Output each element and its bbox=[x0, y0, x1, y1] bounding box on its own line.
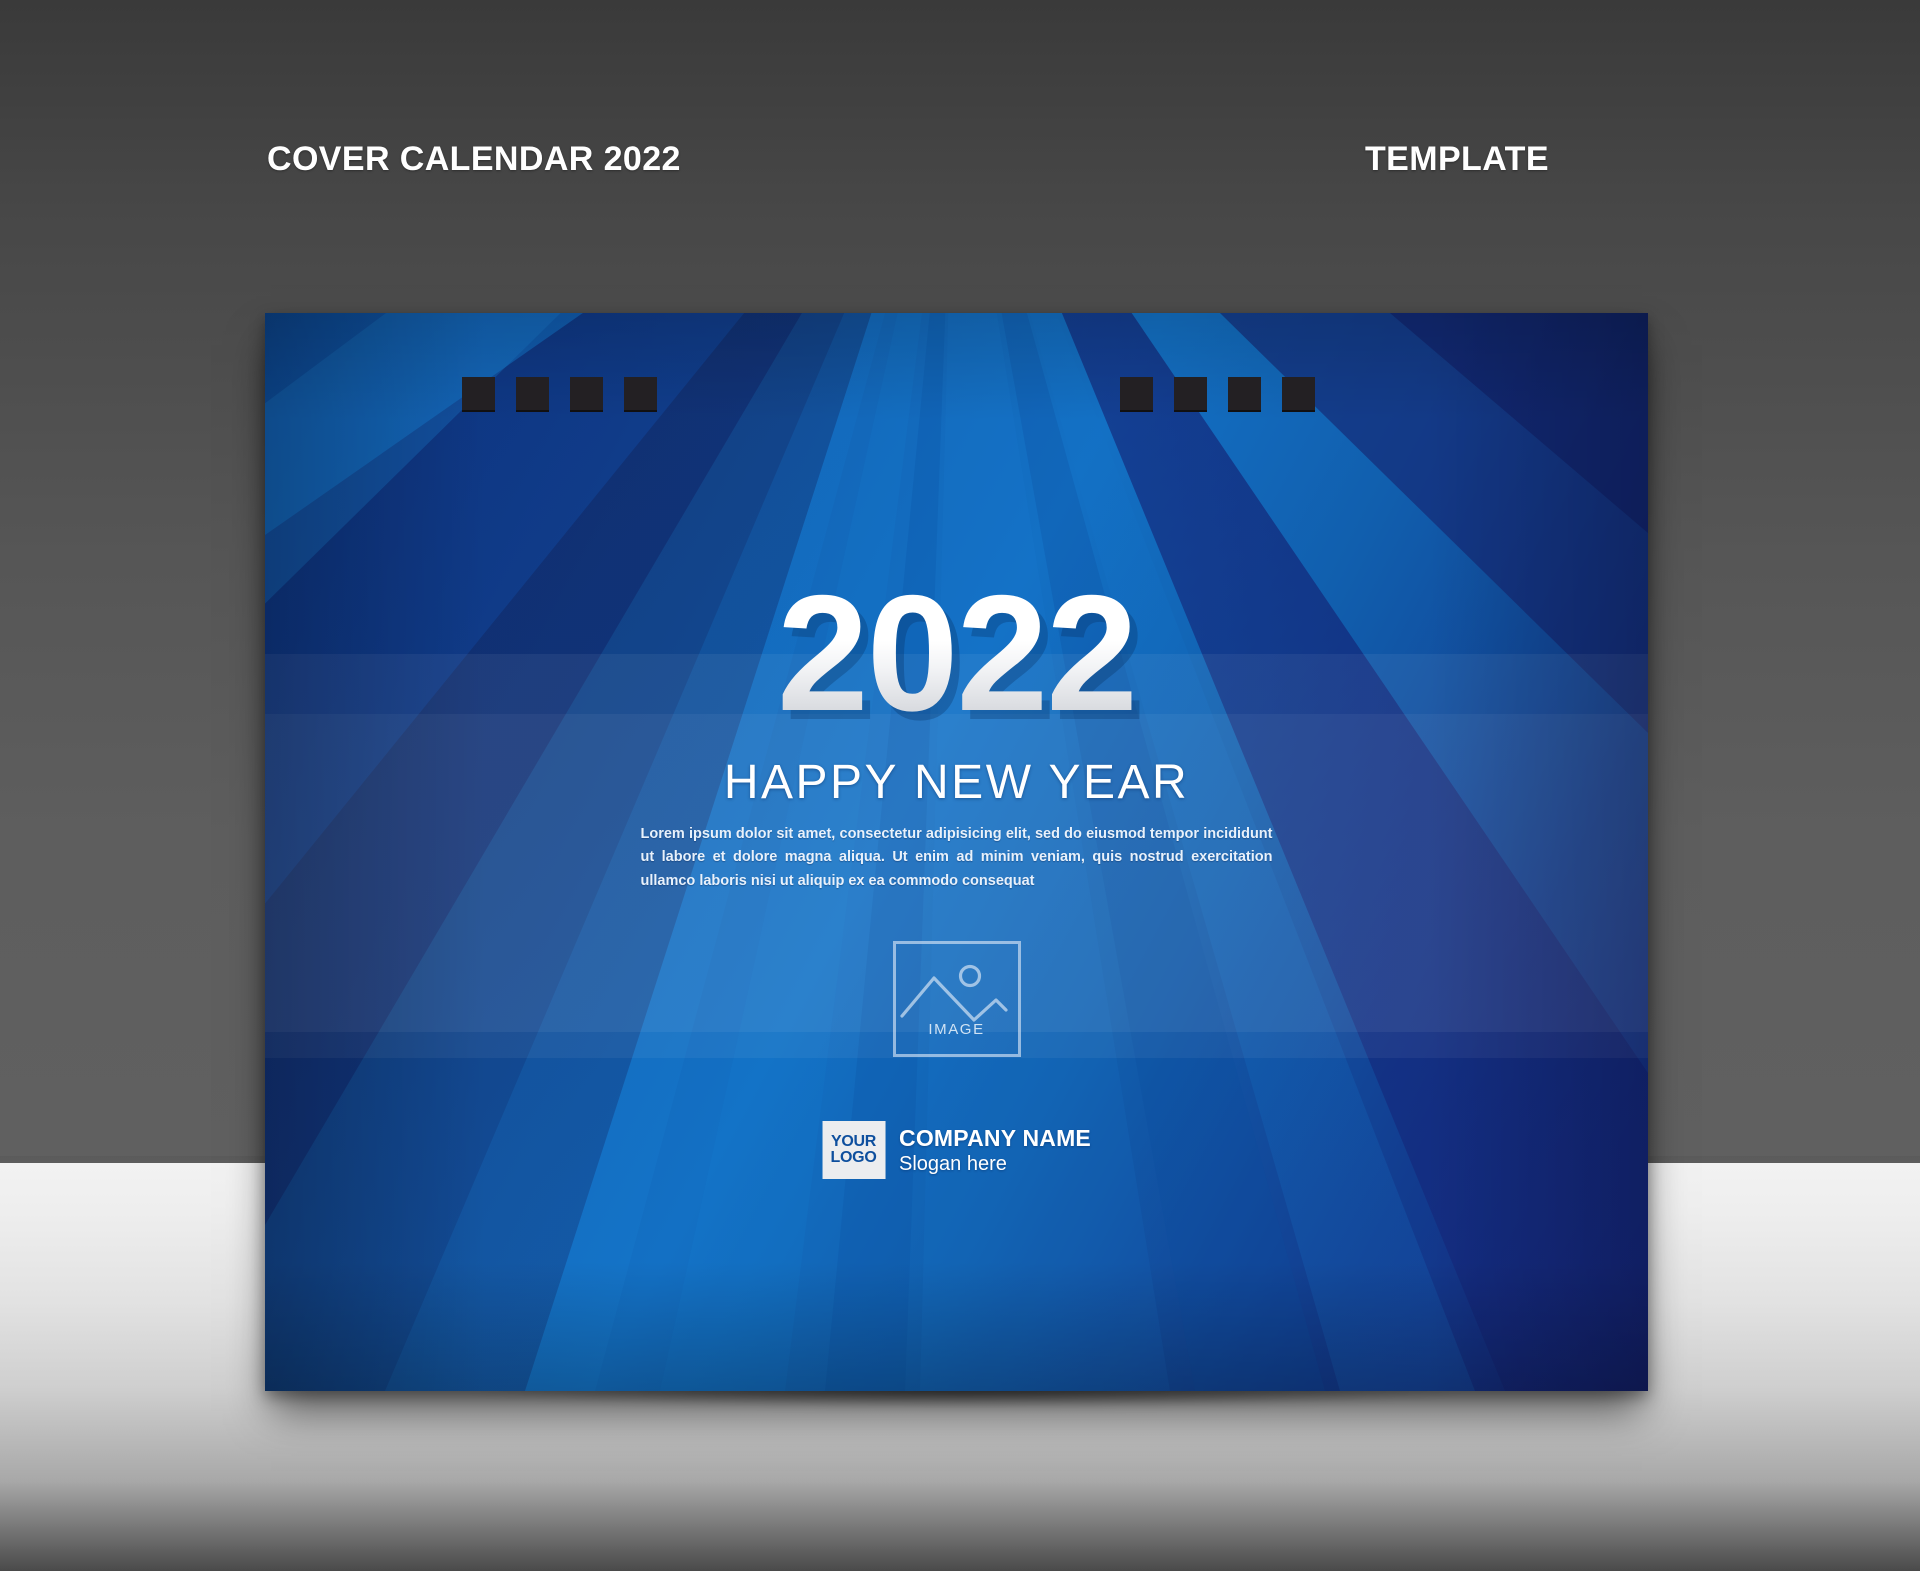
body-paragraph: Lorem ipsum dolor sit amet, consectetur … bbox=[641, 823, 1273, 893]
logo-box: YOUR LOGO bbox=[822, 1121, 885, 1179]
logo-line-2: LOGO bbox=[831, 1150, 877, 1166]
company-slogan: Slogan here bbox=[899, 1153, 1091, 1176]
page-title-left: COVER CALENDAR 2022 bbox=[267, 140, 681, 179]
year-heading: 2022 bbox=[265, 571, 1648, 736]
greeting-heading: HAPPY NEW YEAR bbox=[265, 755, 1648, 810]
screenshot-stage: COVER CALENDAR 2022 TEMPLATE bbox=[0, 0, 1920, 1571]
card-content: 2022 HAPPY NEW YEAR Lorem ipsum dolor si… bbox=[265, 313, 1648, 1391]
brand-text: COMPANY NAME Slogan here bbox=[899, 1125, 1091, 1176]
page-title-right: TEMPLATE bbox=[1365, 140, 1549, 179]
calendar-cover-card[interactable]: 2022 HAPPY NEW YEAR Lorem ipsum dolor si… bbox=[265, 313, 1648, 1391]
brand-block[interactable]: YOUR LOGO COMPANY NAME Slogan here bbox=[822, 1121, 1091, 1179]
image-placeholder-caption: IMAGE bbox=[896, 1021, 1018, 1038]
logo-line-1: YOUR bbox=[831, 1134, 876, 1150]
company-name: COMPANY NAME bbox=[899, 1125, 1091, 1152]
image-placeholder[interactable]: IMAGE bbox=[893, 941, 1021, 1057]
